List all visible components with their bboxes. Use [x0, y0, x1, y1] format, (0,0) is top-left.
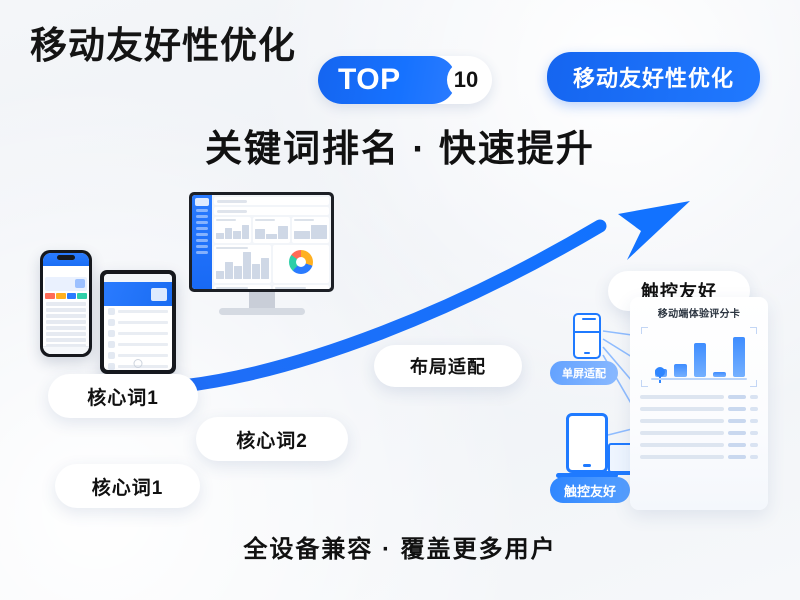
footer-tagline: 全设备兼容 · 覆盖更多用户	[243, 529, 556, 564]
scorecard-row	[639, 427, 759, 439]
dashboard-main	[212, 195, 331, 289]
scorecard-title: 移动端体验评分卡	[639, 305, 759, 320]
tablet-mockup	[100, 270, 176, 374]
scorecard-chart	[641, 327, 757, 387]
diagram-pill-touch-friendly: 触控友好	[550, 477, 630, 503]
keyword-pill-2[interactable]: 核心词2	[196, 417, 348, 461]
scorecard-row	[639, 403, 759, 415]
diagram-phone-icon	[573, 313, 601, 359]
scorecard-row	[639, 391, 759, 403]
top-rank-number: 10	[447, 61, 485, 99]
keyword-pill-3[interactable]: 核心词1	[55, 464, 200, 508]
monitor-screen	[189, 192, 334, 292]
mobile-experience-diagram: 单屏适配 触控友好 移动端体验评分卡	[548, 305, 770, 515]
donut-chart	[273, 245, 330, 283]
dashboard-sidebar	[192, 195, 212, 289]
diagram-tablet-icon	[566, 413, 608, 473]
scorecard-row	[639, 415, 759, 427]
scorecard-panel: 移动端体验评分卡	[630, 297, 768, 510]
keyword-pill-1[interactable]: 核心词1	[48, 374, 198, 418]
poster-canvas: 移动友好性优化 TOP 10 移动友好性优化 关键词排名 · 快速提升	[0, 0, 800, 600]
diagram-pill-single-screen: 单屏适配	[550, 361, 618, 385]
scorecard-row	[639, 439, 759, 451]
phone-mockup	[40, 250, 92, 357]
monitor-neck	[249, 292, 275, 308]
device-mockup-cluster	[22, 192, 342, 392]
scorecard-row	[639, 451, 759, 463]
top-rank-badge-pill: TOP	[318, 56, 456, 104]
desktop-monitor-mockup	[189, 192, 334, 315]
keyword-pill-layout-adapt[interactable]: 布局适配	[374, 345, 522, 387]
header-tag-pill: 移动友好性优化	[547, 52, 760, 102]
top-rank-badge: TOP 10	[318, 56, 492, 104]
monitor-base	[219, 308, 305, 315]
page-title: 移动友好性优化	[30, 26, 296, 67]
top-rank-label: TOP	[338, 63, 401, 97]
page-subtitle: 关键词排名 · 快速提升	[205, 118, 595, 172]
